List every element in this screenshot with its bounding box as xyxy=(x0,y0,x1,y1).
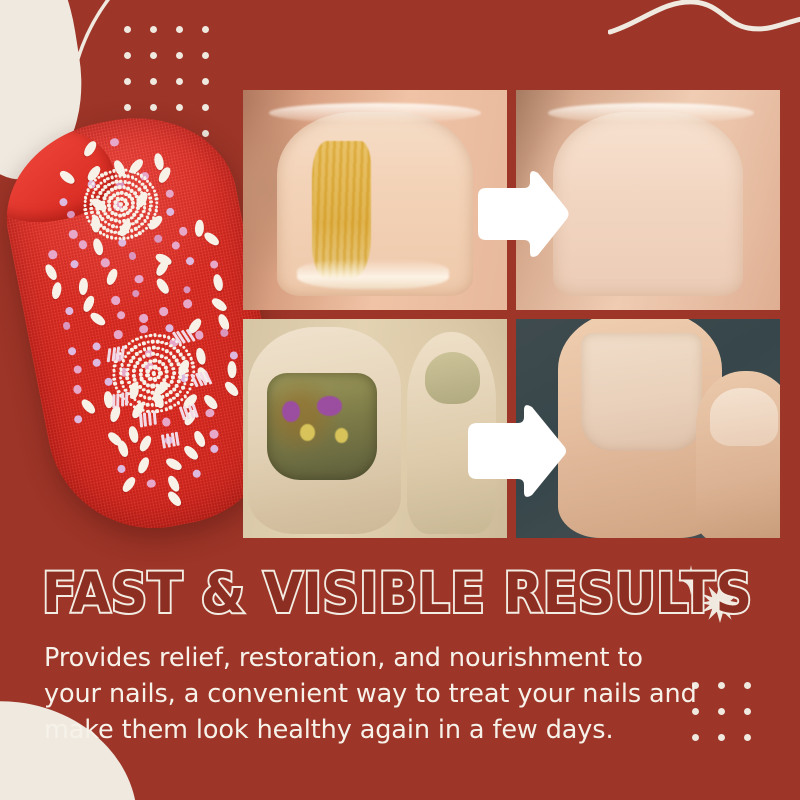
cuticle xyxy=(269,103,480,123)
lesion xyxy=(317,396,341,415)
pus-spot xyxy=(335,428,348,443)
before-after-photo-grid xyxy=(243,90,780,538)
photo-after-fingernail xyxy=(516,90,780,310)
fingernail-plate xyxy=(277,112,472,296)
cuticle xyxy=(548,103,754,123)
photo-before-fingernail xyxy=(243,90,507,310)
lesion xyxy=(282,401,300,422)
healthy-fingernail-plate xyxy=(553,112,743,296)
sock-cuff xyxy=(0,124,122,231)
pus-spot xyxy=(300,424,315,441)
body-copy: Provides relief, restoration, and nouris… xyxy=(44,640,704,749)
big-toe xyxy=(248,327,401,533)
second-toenail-plate xyxy=(425,352,481,405)
top-right-wave-icon xyxy=(608,0,800,66)
nail-crumbling-edge xyxy=(297,259,449,289)
photo-before-toenail xyxy=(243,319,507,539)
healthy-toenail-plate xyxy=(581,333,702,452)
photo-after-toenail xyxy=(516,319,780,539)
diseased-toenail-plate xyxy=(267,373,377,480)
page-title: FAST & VISIBLE RESULTS xyxy=(42,566,752,621)
promo-poster: FAST & VISIBLE RESULTS Provides relief, … xyxy=(0,0,800,800)
healthy-second-toe xyxy=(696,371,780,538)
nail-fungus-area xyxy=(312,141,371,277)
healthy-second-toenail-plate xyxy=(710,388,778,446)
second-toe xyxy=(407,332,497,534)
